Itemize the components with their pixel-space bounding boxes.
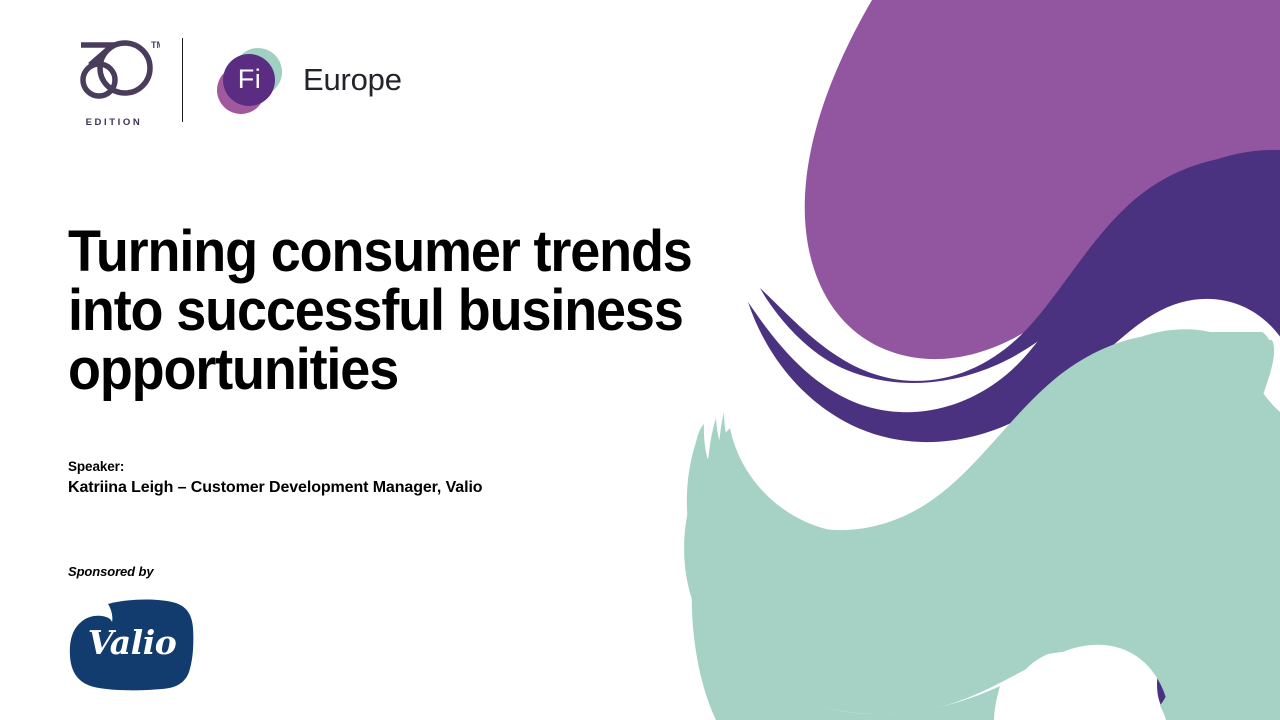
fi-europe-logo: Fi Europe bbox=[213, 44, 402, 116]
edition-30-mark: TM bbox=[68, 32, 160, 110]
mint-bottom-left-fill bbox=[687, 470, 1000, 720]
presentation-slide: TM EDITION Fi Europe Turning consumer tr… bbox=[0, 0, 1280, 720]
deep-purple-right-mass bbox=[748, 150, 1280, 720]
fi-letters: Fi bbox=[213, 44, 285, 116]
speaker-label: Speaker: bbox=[68, 457, 482, 477]
mauve-blob-shape bbox=[805, 0, 1280, 359]
title-block: Turning consumer trends into successful … bbox=[68, 222, 808, 399]
mint-blob-lower-mass bbox=[687, 350, 1280, 720]
deep-purple-blob-shape bbox=[760, 156, 1280, 716]
valio-logo: Valio bbox=[68, 596, 196, 692]
fi-europe-wordmark: Europe bbox=[303, 62, 402, 98]
logo-divider bbox=[182, 38, 183, 122]
edition-word-label: EDITION bbox=[68, 117, 160, 128]
svg-text:TM: TM bbox=[151, 40, 160, 50]
slide-title: Turning consumer trends into successful … bbox=[68, 222, 756, 399]
speaker-name: Katriina Leigh – Customer Development Ma… bbox=[68, 477, 482, 499]
white-notch-bottom bbox=[1007, 652, 1166, 720]
fi-circles-mark: Fi bbox=[213, 44, 285, 116]
valio-wordmark: Valio bbox=[68, 596, 196, 692]
edition-30th-logo: TM EDITION bbox=[68, 32, 160, 128]
speaker-block: Speaker: Katriina Leigh – Customer Devel… bbox=[68, 457, 482, 499]
sponsored-by-label: Sponsored by bbox=[68, 564, 196, 579]
header-logo-lockup: TM EDITION Fi Europe bbox=[68, 30, 402, 130]
sponsor-block: Sponsored by Valio bbox=[68, 564, 196, 692]
